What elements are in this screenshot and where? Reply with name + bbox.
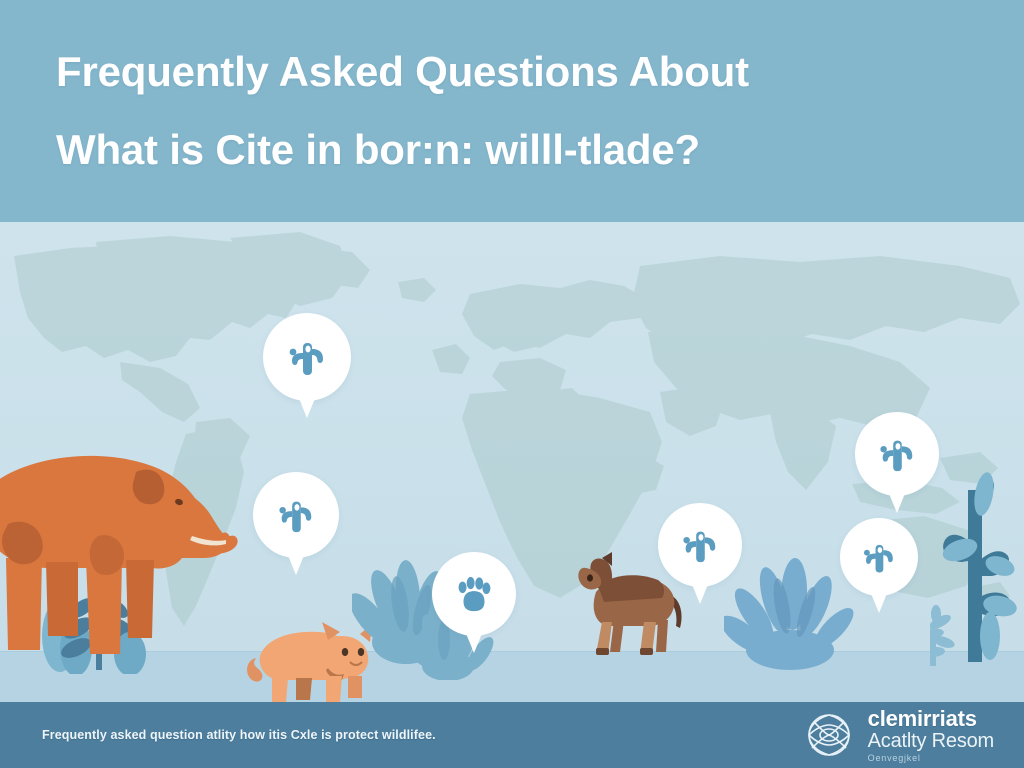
pin-tail (870, 591, 888, 613)
pin-bubble (253, 472, 339, 558)
pin-bubble (263, 313, 351, 401)
map-pin-paw[interactable] (432, 552, 516, 636)
header-banner: Frequently Asked Questions About What is… (0, 0, 1024, 222)
brand-name: clemirriats (868, 708, 994, 730)
pin-bubble (855, 412, 939, 496)
pin-tail (691, 582, 709, 604)
page-title-line-1: Frequently Asked Questions About (56, 51, 968, 93)
footer-bar: Frequently asked question atlity how iti… (0, 702, 1024, 768)
pin-bubble (658, 503, 742, 587)
pin-tail (298, 396, 316, 418)
cactus-icon (285, 335, 329, 379)
brand-tagline: Oenvegjkel (868, 754, 994, 763)
footer-note: Frequently asked question atlity how iti… (42, 728, 436, 742)
cactus-icon (679, 524, 721, 566)
map-stage (0, 222, 1024, 702)
pin-bubble (432, 552, 516, 636)
paw-icon (453, 573, 495, 615)
brand-lockup[interactable]: clemirriats Acatlty Resom Oenvegjkel (802, 708, 994, 763)
pin-tail (888, 491, 906, 513)
cactus-icon (876, 433, 918, 475)
cactus-icon (860, 538, 898, 576)
map-pin-cactus-1[interactable] (263, 313, 351, 401)
map-pin-cactus-2[interactable] (253, 472, 339, 558)
pin-bubble (840, 518, 918, 596)
pin-tail (465, 631, 483, 653)
cactus-icon (275, 494, 317, 536)
brand-subtitle: Acatlty Resom (868, 731, 994, 751)
orange-large-mammal (0, 440, 246, 656)
map-pin-cactus-3[interactable] (658, 503, 742, 587)
map-pin-cactus-5[interactable] (840, 518, 918, 596)
page-title-line-2: What is Cite in bor:n: willl-tlade? (56, 129, 968, 171)
pin-tail (287, 553, 305, 575)
circular-emblem-logo (802, 708, 856, 762)
blue-cactus-tree (930, 466, 1024, 670)
infographic-canvas: Frequently Asked Questions About What is… (0, 0, 1024, 768)
brand-text: clemirriats Acatlty Resom Oenvegjkel (868, 708, 994, 763)
map-pin-cactus-4[interactable] (855, 412, 939, 496)
